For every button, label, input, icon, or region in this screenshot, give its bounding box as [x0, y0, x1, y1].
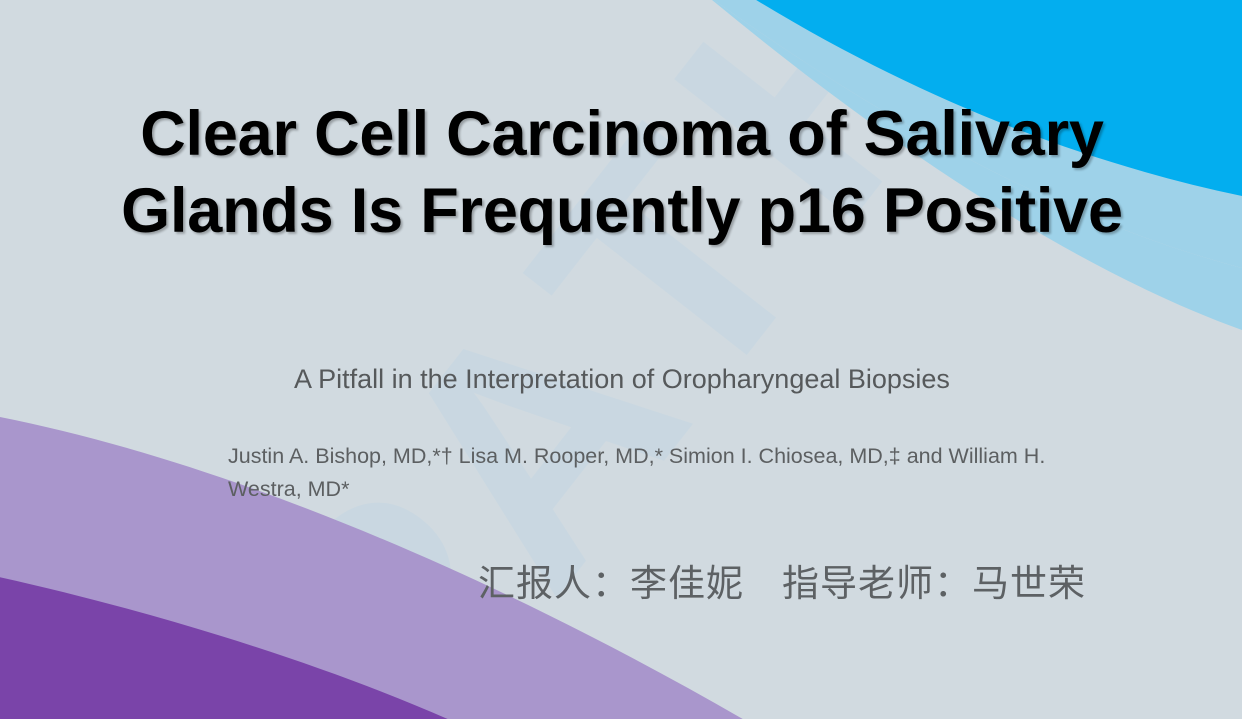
author-list: Justin A. Bishop, MD,*† Lisa M. Rooper, …	[228, 440, 1088, 505]
slide-content: Clear Cell Carcinoma of Salivary Glands …	[0, 0, 1242, 719]
presenter-line: 汇报人：李佳妮 指导老师：马世荣	[86, 562, 1158, 606]
presentation-slide: PATH Clear Cell Carcinoma of Salivary Gl…	[0, 0, 1242, 719]
slide-subtitle: A Pitfall in the Interpretation of Oroph…	[86, 362, 1158, 397]
slide-title: Clear Cell Carcinoma of Salivary Glands …	[86, 96, 1158, 250]
